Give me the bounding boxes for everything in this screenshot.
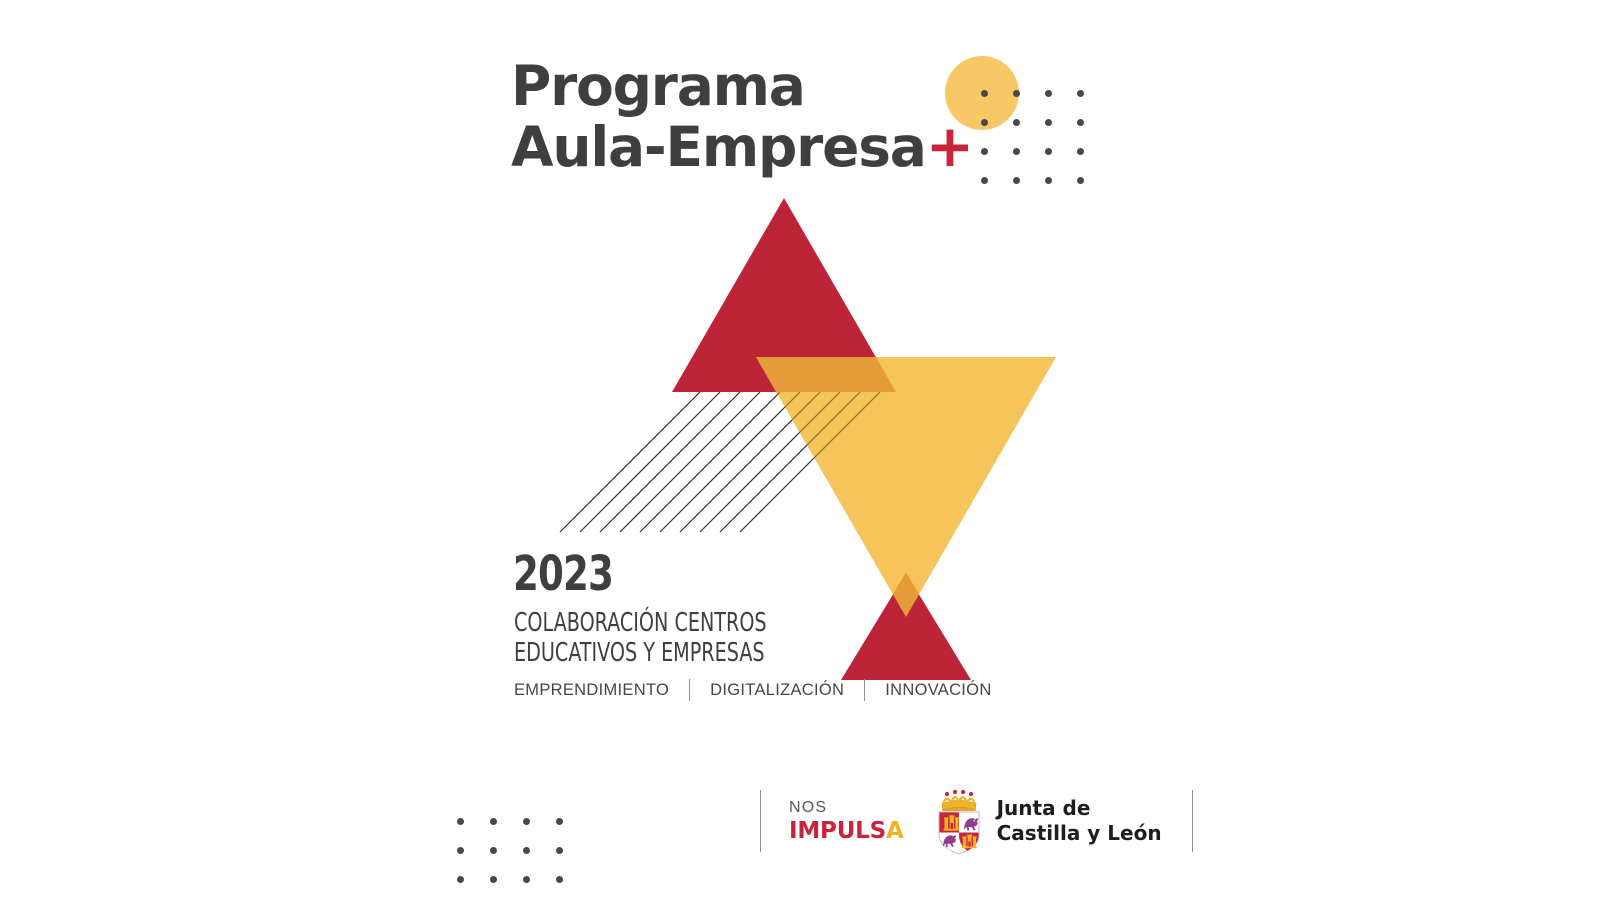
tagline-item-emprendimiento: EMPRENDIMIENTO <box>514 681 669 700</box>
dot <box>1013 148 1020 155</box>
dot <box>556 876 563 883</box>
dot <box>1045 119 1052 126</box>
nos-impulsa-nos: NOS <box>789 800 904 816</box>
junta-line-1: Junta de <box>997 796 1162 821</box>
dot <box>981 148 988 155</box>
dot-grid-icon <box>981 90 1109 206</box>
nos-impulsa-a-accent: A <box>886 818 904 844</box>
dot-grid-icon <box>457 818 589 900</box>
subtitle: COLABORACIÓN CENTROS EDUCATIVOS Y EMPRES… <box>514 608 767 668</box>
dot <box>490 876 497 883</box>
dot <box>490 818 497 825</box>
dot <box>1077 90 1084 97</box>
dot <box>1045 90 1052 97</box>
castilla-leon-coat-of-arms-icon <box>930 787 988 855</box>
dot <box>1013 90 1020 97</box>
dot <box>981 177 988 184</box>
dot <box>981 119 988 126</box>
poster-canvas: Programa Aula-Empresa+ 2023 COLABORACIÓN… <box>0 0 1600 900</box>
dot <box>1077 148 1084 155</box>
tagline-item-digitalizacion: DIGITALIZACIÓN <box>710 681 844 700</box>
footer-divider-right <box>1192 790 1193 852</box>
dot <box>457 818 464 825</box>
nos-impulsa-logo: NOS IMPULSA <box>789 800 904 843</box>
dot <box>490 847 497 854</box>
dot <box>556 847 563 854</box>
tagline-item-innovacion: INNOVACIÓN <box>885 681 991 700</box>
junta-castilla-leon-logo: Junta de Castilla y León <box>930 787 1162 855</box>
dot <box>981 90 988 97</box>
nos-impulsa-impuls: IMPULS <box>789 818 886 844</box>
tagline-separator <box>864 679 865 701</box>
tagline-separator <box>689 679 690 701</box>
crown-icon <box>942 790 976 811</box>
subtitle-line-1: COLABORACIÓN CENTROS <box>514 608 767 638</box>
dot <box>556 818 563 825</box>
geometric-composition <box>0 0 1600 900</box>
dot <box>523 818 530 825</box>
dot <box>1013 119 1020 126</box>
dot <box>1077 177 1084 184</box>
junta-castilla-leon-wordmark: Junta de Castilla y León <box>997 796 1162 846</box>
dot <box>457 876 464 883</box>
footer-divider-left <box>760 790 761 852</box>
nos-impulsa-impulsa: IMPULSA <box>789 820 904 843</box>
dot <box>1045 148 1052 155</box>
junta-line-2: Castilla y León <box>997 821 1162 846</box>
dot <box>1013 177 1020 184</box>
dot <box>523 876 530 883</box>
footer-logos: NOS IMPULSA <box>760 781 1193 861</box>
year-label: 2023 <box>513 548 613 600</box>
tagline-row: EMPRENDIMIENTO DIGITALIZACIÓN INNOVACIÓN <box>514 679 992 701</box>
dot <box>1077 119 1084 126</box>
subtitle-line-2: EDUCATIVOS Y EMPRESAS <box>514 638 767 668</box>
dot <box>1045 177 1052 184</box>
dot <box>523 847 530 854</box>
dot <box>457 847 464 854</box>
